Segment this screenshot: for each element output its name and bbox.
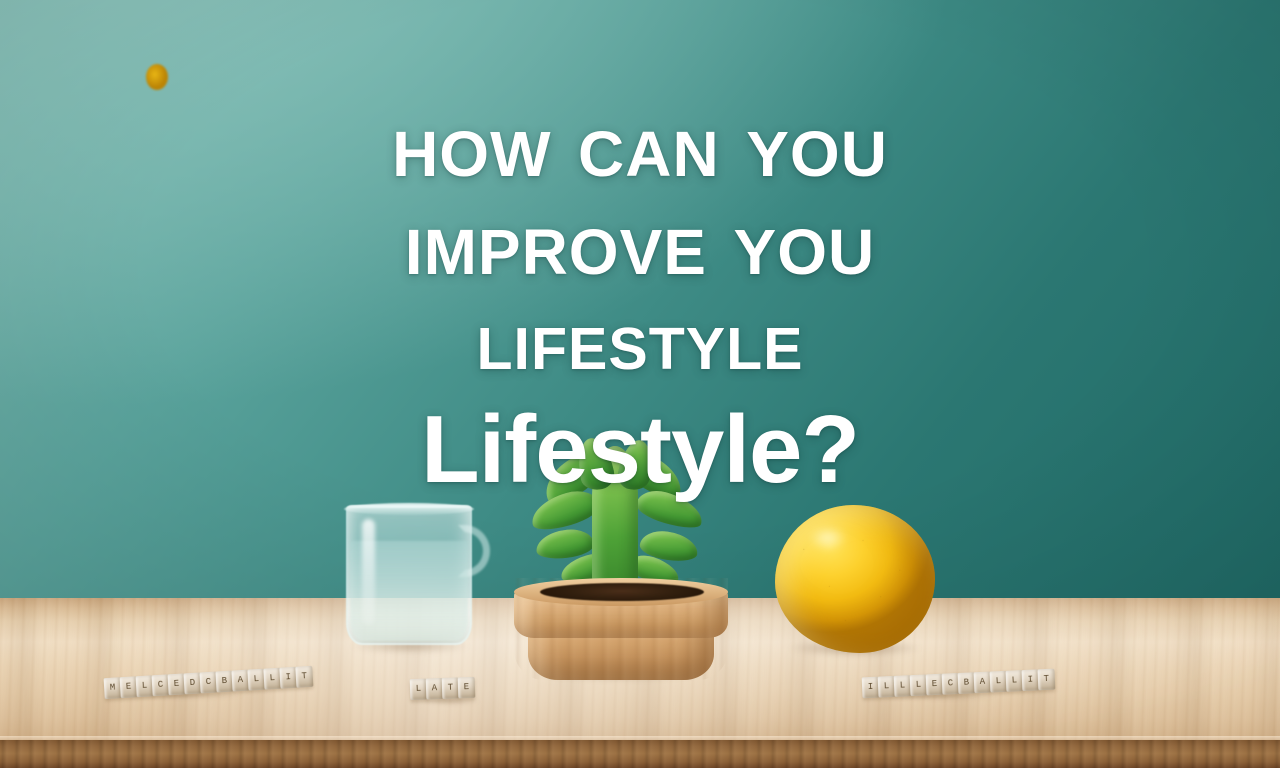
letter-block: T [1037, 669, 1055, 691]
letter-block: A [426, 678, 444, 700]
letter-block: T [442, 677, 460, 699]
letter-block: T [295, 666, 313, 688]
pot-soil [540, 583, 704, 601]
lemon-highlight [801, 521, 855, 555]
glass-highlight [362, 519, 375, 625]
letter-block: L [410, 679, 428, 701]
poster-canvas: M E L C E D C B A L L I T L A T E I L L … [0, 0, 1280, 768]
table-edge-grain [0, 740, 1280, 768]
letter-block-group-middle: L A T E [410, 677, 475, 700]
letter-block: E [458, 677, 476, 699]
glass-of-water [340, 497, 478, 649]
lemon-fruit [775, 505, 935, 653]
lemon-peel-texture [775, 505, 935, 653]
lemon-stem-nub [146, 64, 168, 90]
glass-rim [344, 503, 474, 515]
